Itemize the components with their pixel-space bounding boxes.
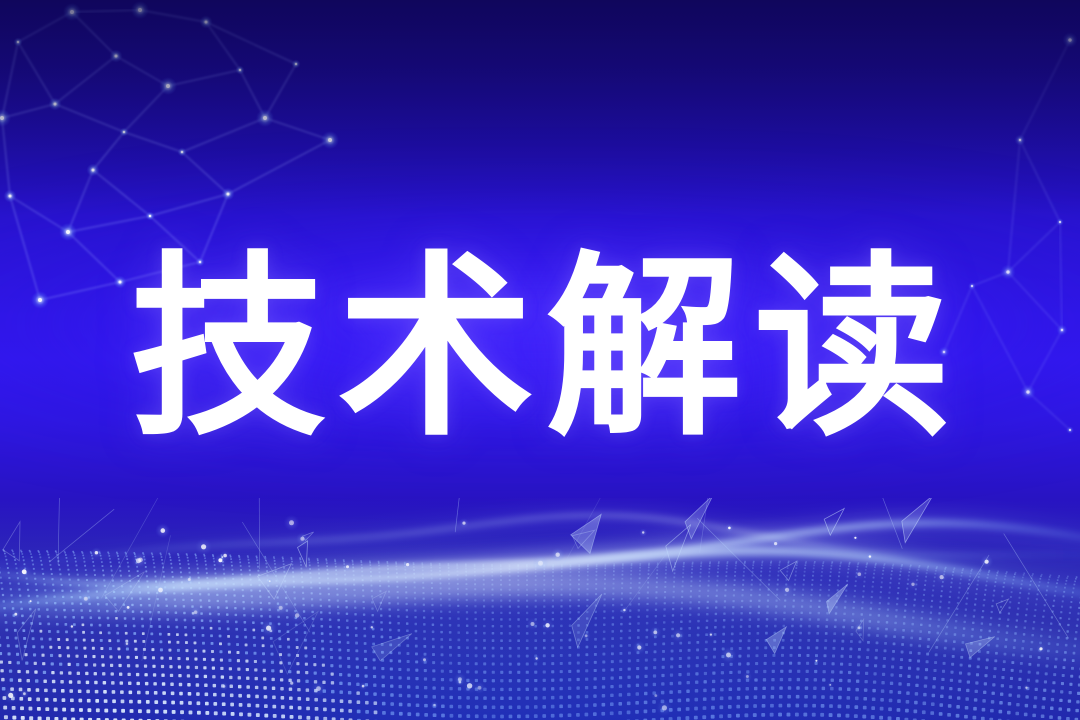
banner-canvas: 技术解读 [0, 0, 1080, 720]
page-title: 技术解读 [118, 251, 962, 447]
headline-container: 技术解读 [0, 243, 1080, 458]
